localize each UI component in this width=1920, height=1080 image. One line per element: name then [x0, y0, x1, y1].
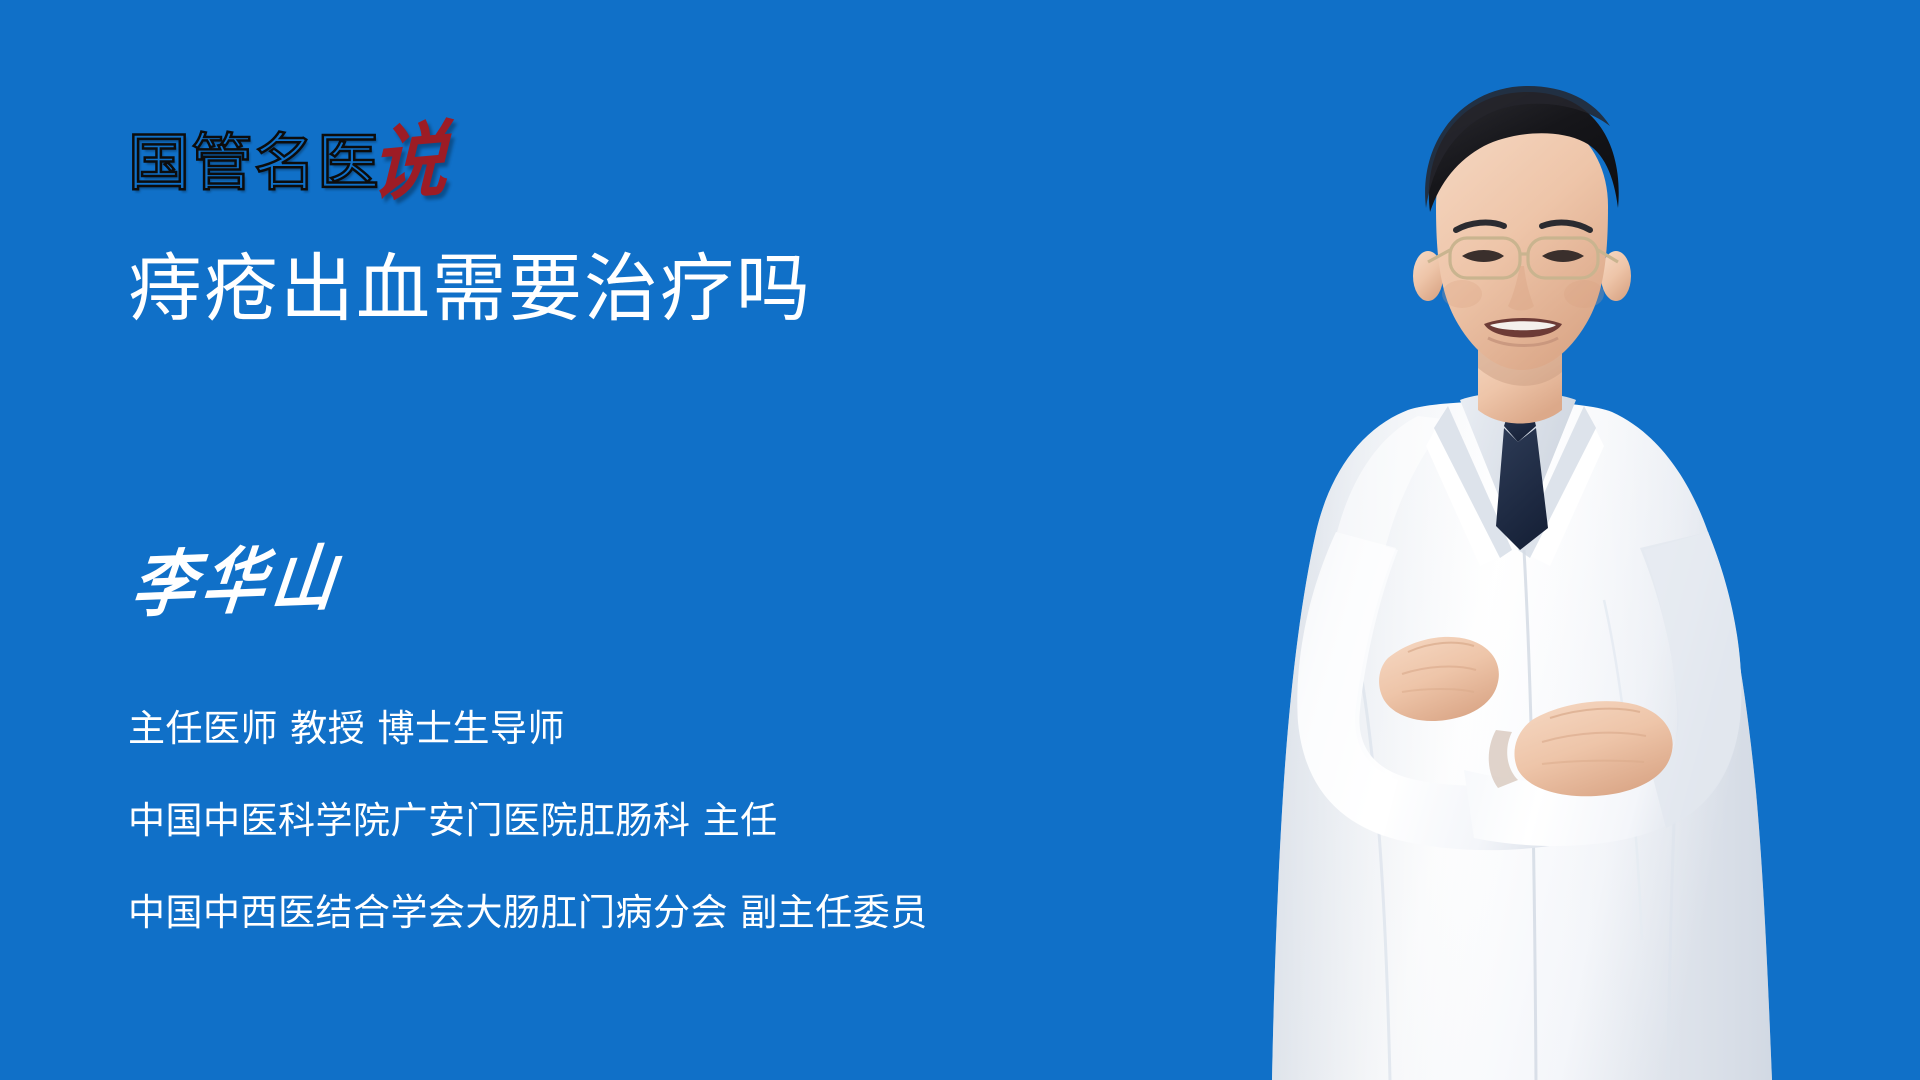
- doctor-portrait-illustration: [1212, 80, 1832, 1080]
- brand-logo-accent-text: 说: [370, 119, 448, 208]
- credential-line: 中国中西医结合学会大肠肛门病分会 副主任委员: [128, 894, 928, 931]
- credential-line: 中国中医科学院广安门医院肛肠科 主任: [128, 802, 928, 839]
- eye-right: [1542, 250, 1584, 262]
- credential-line: 主任医师 教授 博士生导师: [128, 710, 928, 747]
- brand-logo-main-text: 国管名医: [128, 132, 380, 194]
- brand-logo: 国管名医 说: [128, 108, 446, 194]
- neck: [1478, 332, 1562, 424]
- face: [1436, 110, 1608, 370]
- eye-left: [1462, 250, 1504, 262]
- speaker-info: 李华山 主任医师 教授 博士生导师 中国中医科学院广安门医院肛肠科 主任 中国中…: [128, 560, 928, 931]
- hand-right: [1489, 701, 1673, 796]
- head: [1413, 86, 1631, 370]
- speaker-credentials: 主任医师 教授 博士生导师 中国中医科学院广安门医院肛肠科 主任 中国中西医结合…: [128, 710, 928, 931]
- eyeglasses: [1428, 238, 1618, 278]
- hair: [1429, 92, 1619, 212]
- speaker-name: 李华山: [128, 519, 957, 622]
- hand-left: [1379, 637, 1499, 721]
- page-title: 痔疮出血需要治疗吗: [128, 248, 812, 331]
- lab-coat: [1272, 393, 1772, 1080]
- doctor-portrait: [1212, 80, 1832, 1080]
- crossed-arms: [1297, 532, 1741, 850]
- necktie: [1496, 428, 1548, 550]
